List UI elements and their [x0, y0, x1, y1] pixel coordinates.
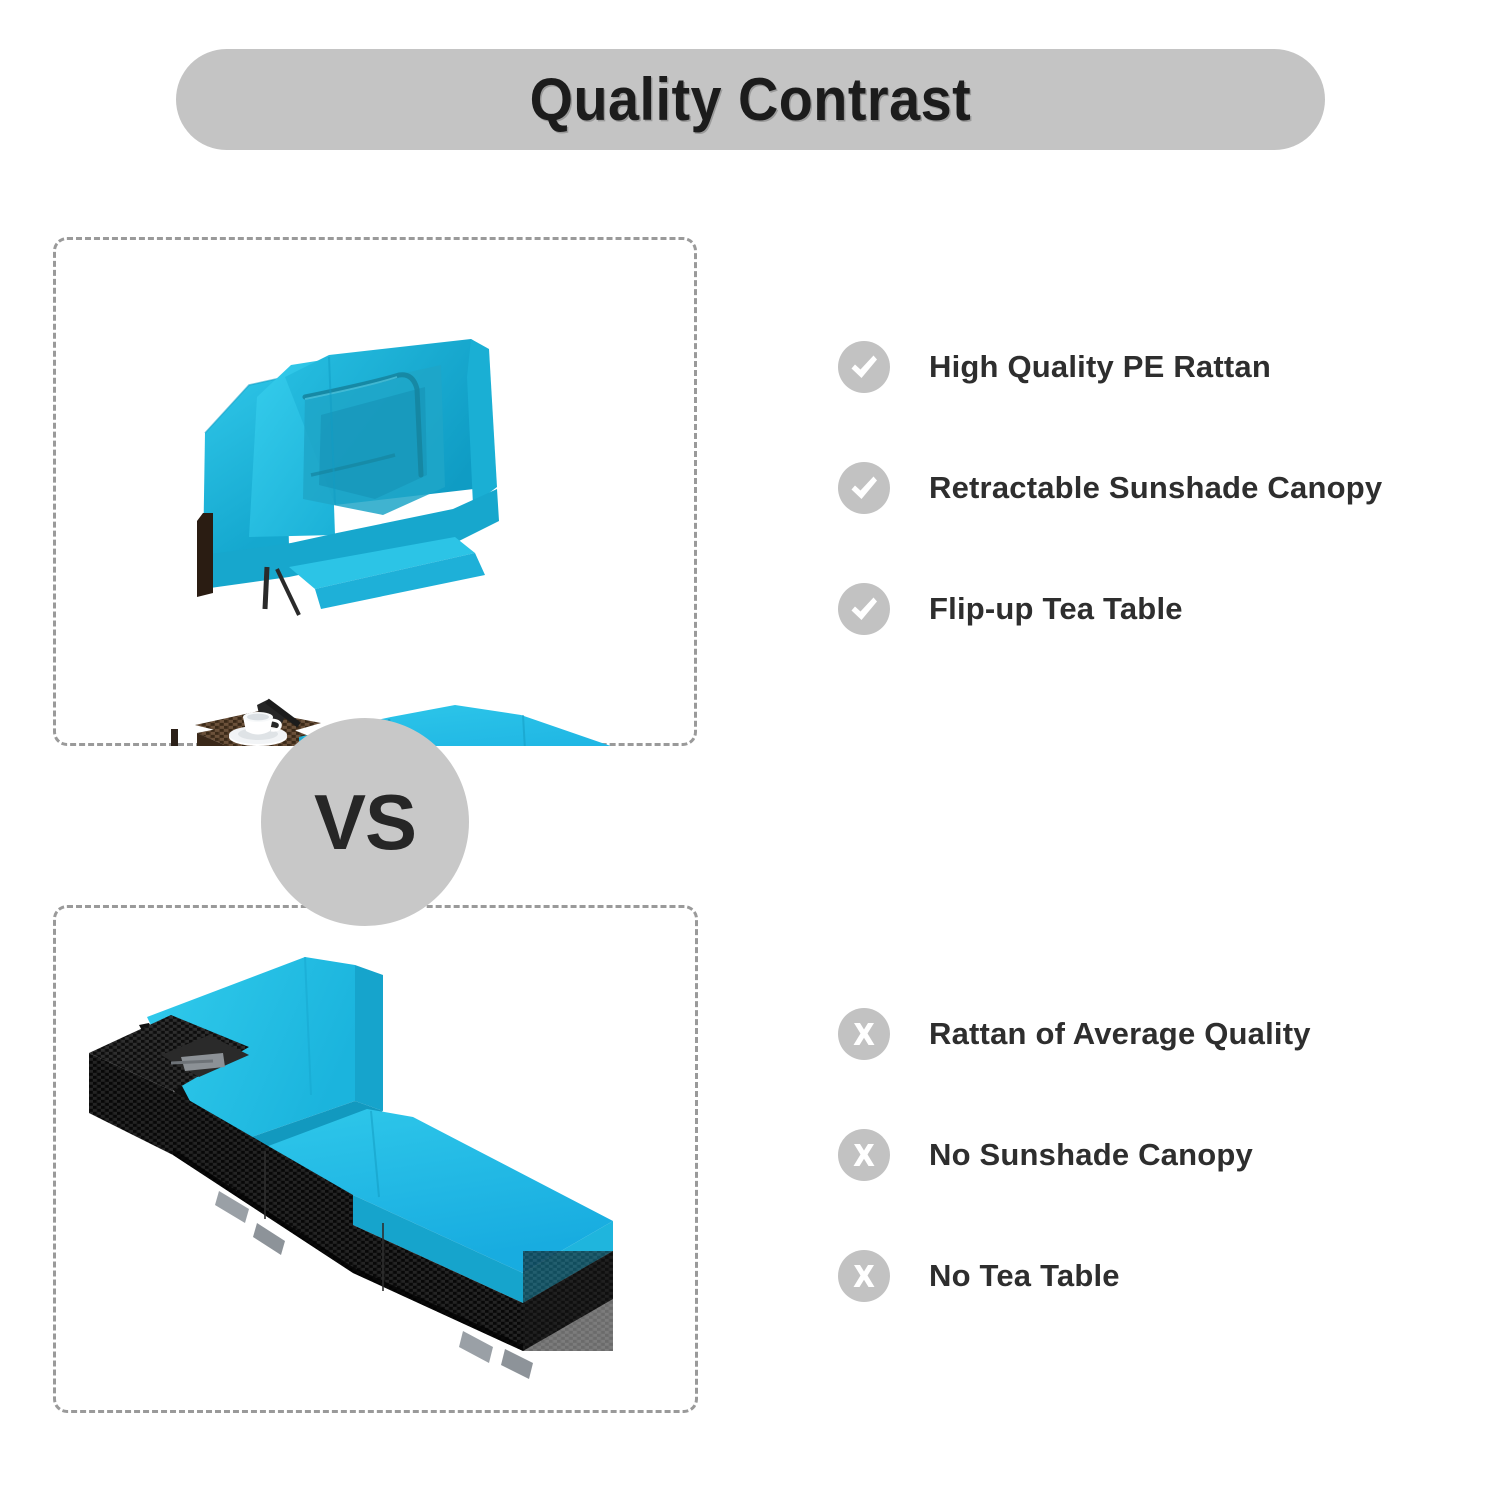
- x-icon: [838, 1008, 890, 1060]
- page-title: Quality Contrast: [530, 65, 972, 134]
- check-icon: [838, 583, 890, 635]
- list-item: No Tea Table: [838, 1250, 1311, 1302]
- list-item: High Quality PE Rattan: [838, 341, 1382, 393]
- check-icon: [838, 462, 890, 514]
- feature-label: No Sunshade Canopy: [929, 1137, 1253, 1173]
- list-item: Retractable Sunshade Canopy: [838, 462, 1382, 514]
- x-icon: [838, 1250, 890, 1302]
- vs-label: VS: [314, 777, 416, 868]
- x-icon: [838, 1129, 890, 1181]
- feature-label: Flip-up Tea Table: [929, 591, 1183, 627]
- vs-badge: VS: [261, 718, 469, 926]
- product-image-premium-lounger: [53, 237, 697, 746]
- feature-list-premium: High Quality PE Rattan Retractable Sunsh…: [838, 341, 1382, 635]
- list-item: Rattan of Average Quality: [838, 1008, 1311, 1060]
- feature-label: Rattan of Average Quality: [929, 1016, 1311, 1052]
- feature-label: No Tea Table: [929, 1258, 1120, 1294]
- list-item: Flip-up Tea Table: [838, 583, 1382, 635]
- feature-label: High Quality PE Rattan: [929, 349, 1271, 385]
- feature-list-ordinary: Rattan of Average Quality No Sunshade Ca…: [838, 1008, 1311, 1302]
- list-item: No Sunshade Canopy: [838, 1129, 1311, 1181]
- feature-label: Retractable Sunshade Canopy: [929, 470, 1382, 506]
- check-icon: [838, 341, 890, 393]
- page-title-banner: Quality Contrast: [176, 49, 1325, 150]
- product-image-ordinary-lounger: [53, 905, 698, 1413]
